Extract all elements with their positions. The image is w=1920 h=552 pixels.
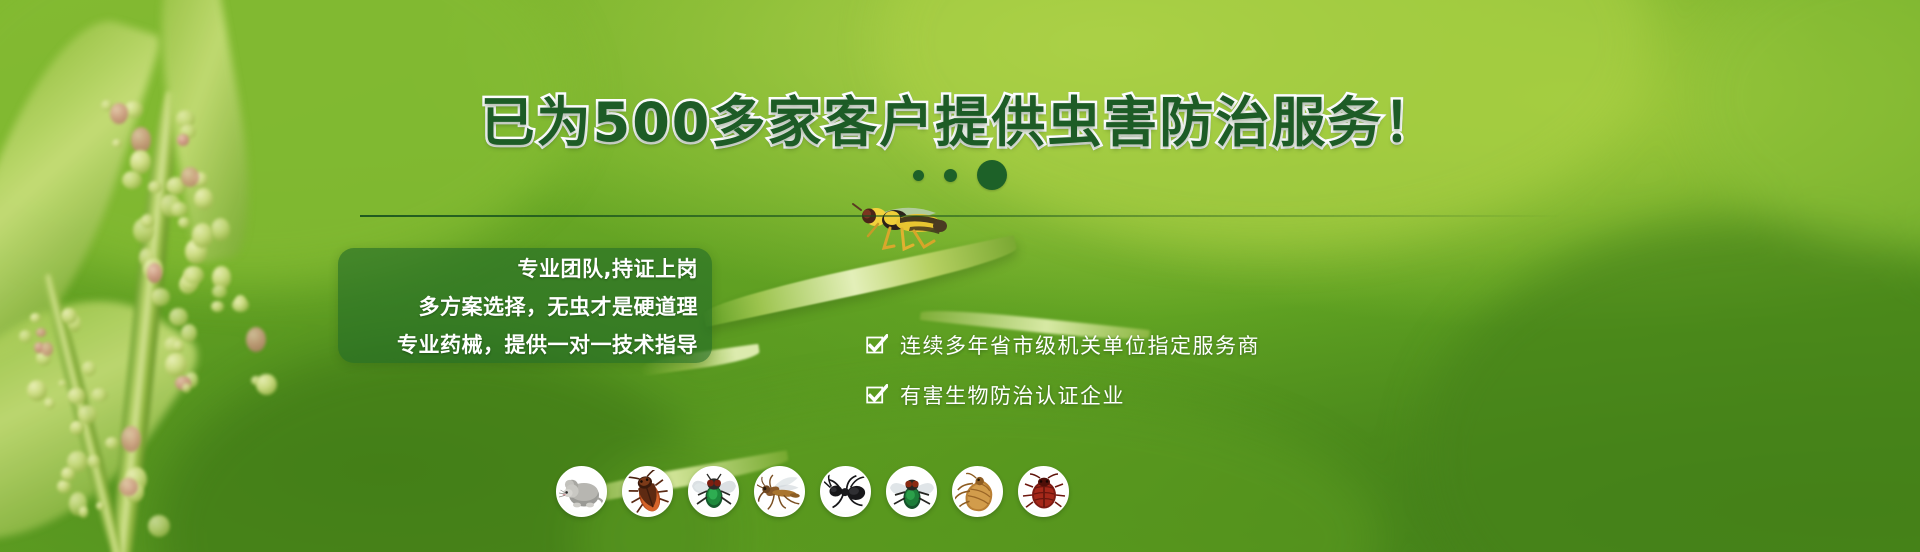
highlight-line-3: 专业药械，提供一对一技术指导 (397, 329, 698, 359)
cockroach-icon[interactable] (622, 466, 673, 517)
highlight-line-1: 专业团队,持证上岗 (518, 253, 698, 283)
credentials-list: 连续多年省市级机关单位指定服务商 有害生物防治认证企业 (866, 328, 1426, 428)
hoverfly-icon (848, 198, 968, 260)
decorative-dots (0, 160, 1920, 190)
mouse-icon[interactable] (556, 466, 607, 517)
headline-text: 已为500多家客户提供虫害防治服务！ (481, 91, 1440, 154)
list-item: 连续多年省市级机关单位指定服务商 (866, 328, 1426, 362)
credential-text: 连续多年省市级机关单位指定服务商 (900, 330, 1260, 360)
list-item: 有害生物防治认证企业 (866, 378, 1426, 412)
mosquito-icon[interactable] (754, 466, 805, 517)
page-title: 已为500多家客户提供虫害防治服务！ (0, 78, 1920, 157)
divider (360, 215, 1560, 217)
blowfly-icon[interactable] (688, 466, 739, 517)
highlights-panel-text: 专业团队,持证上岗 多方案选择，无虫才是硬道理 专业药械，提供一对一技术指导 (338, 248, 712, 363)
pest-icon-row (556, 466, 1069, 517)
pest-control-banner: 已为500多家客户提供虫害防治服务！ 专业团队,持证上岗 多方案选择，无虫才是硬… (0, 0, 1920, 552)
credential-text: 有害生物防治认证企业 (900, 380, 1125, 410)
dot-medium (944, 169, 957, 182)
check-box-icon (866, 334, 888, 356)
dot-large (977, 160, 1007, 190)
check-box-icon (866, 384, 888, 406)
highlight-line-2: 多方案选择，无虫才是硬道理 (419, 291, 699, 321)
ant-icon[interactable] (820, 466, 871, 517)
bedbug-icon[interactable] (1018, 466, 1069, 517)
flea-icon[interactable] (952, 466, 1003, 517)
dot-small (913, 170, 924, 181)
housefly-icon[interactable] (886, 466, 937, 517)
